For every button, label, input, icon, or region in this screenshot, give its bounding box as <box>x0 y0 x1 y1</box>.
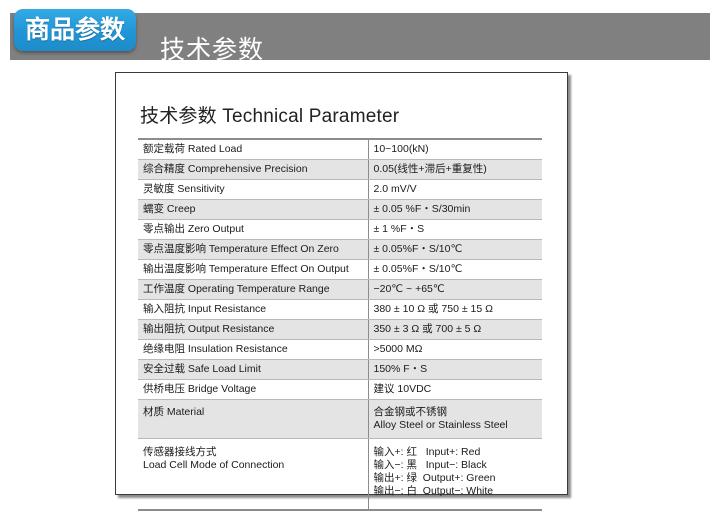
row-value: >5000 MΩ <box>368 340 542 360</box>
row-value: ± 0.05%F・S/10℃ <box>368 260 542 280</box>
table-row-material: 材质 Material 合金钢或不锈钢 Alloy Steel or Stain… <box>138 400 542 439</box>
table-row: 零点输出 Zero Output ± 1 %F・S <box>138 220 542 240</box>
table-row: 额定载荷 Rated Load 10~100(kN) <box>138 139 542 160</box>
wire-input-negative: 输入−: 黑 Input−: Black <box>374 459 537 472</box>
row-key: 蠕变 Creep <box>138 200 368 220</box>
table-row: 绝缘电阻 Insulation Resistance >5000 MΩ <box>138 340 542 360</box>
header-title: 技术参数 <box>160 29 264 71</box>
table-row: 灵敏度 Sensitivity 2.0 mV/V <box>138 180 542 200</box>
row-value: ± 1 %F・S <box>368 220 542 240</box>
row-value: ± 0.05%F・S/10℃ <box>368 240 542 260</box>
row-value: 350 ± 3 Ω 或 700 ± 5 Ω <box>368 320 542 340</box>
table-row: 输入阻抗 Input Resistance 380 ± 10 Ω 或 750 ±… <box>138 300 542 320</box>
row-key: 输出阻抗 Output Resistance <box>138 320 368 340</box>
row-key: 综合精度 Comprehensive Precision <box>138 160 368 180</box>
table-row: 工作温度 Operating Temperature Range −20℃ ~ … <box>138 280 542 300</box>
wire-output-negative: 输出−: 白 Output−: White <box>374 485 537 498</box>
row-key: 输出温度影响 Temperature Effect On Output <box>138 260 368 280</box>
table-row: 零点温度影响 Temperature Effect On Zero ± 0.05… <box>138 240 542 260</box>
table-row: 输出温度影响 Temperature Effect On Output ± 0.… <box>138 260 542 280</box>
product-params-badge: 商品参数 <box>14 9 136 51</box>
row-key: 零点输出 Zero Output <box>138 220 368 240</box>
connection-key-line-2: Load Cell Mode of Connection <box>143 459 362 472</box>
row-value: −20℃ ~ +65℃ <box>368 280 542 300</box>
table-row: 供桥电压 Bridge Voltage 建议 10VDC <box>138 380 542 400</box>
spec-card: 技术参数 Technical Parameter 额定载荷 Rated Load… <box>115 72 568 495</box>
row-key: 安全过载 Safe Load Limit <box>138 360 368 380</box>
row-key: 绝缘电阻 Insulation Resistance <box>138 340 368 360</box>
row-value: 380 ± 10 Ω 或 750 ± 15 Ω <box>368 300 542 320</box>
table-row: 蠕变 Creep ± 0.05 %F・S/30min <box>138 200 542 220</box>
table-row: 综合精度 Comprehensive Precision 0.05(线性+滞后+… <box>138 160 542 180</box>
row-value: 0.05(线性+滞后+重复性) <box>368 160 542 180</box>
row-value: 150% F・S <box>368 360 542 380</box>
table-row-connection: 传感器接线方式 Load Cell Mode of Connection 输入+… <box>138 439 542 511</box>
wire-input-positive: 输入+: 红 Input+: Red <box>374 446 537 459</box>
material-line-2: Alloy Steel or Stainless Steel <box>374 419 537 432</box>
row-key: 材质 Material <box>138 400 368 439</box>
wire-output-positive: 输出+: 绿 Output+: Green <box>374 472 537 485</box>
row-value: 建议 10VDC <box>368 380 542 400</box>
row-key: 供桥电压 Bridge Voltage <box>138 380 368 400</box>
row-value: 10~100(kN) <box>368 139 542 160</box>
spec-table-title: 技术参数 Technical Parameter <box>140 101 545 128</box>
row-key: 工作温度 Operating Temperature Range <box>138 280 368 300</box>
row-value: 合金钢或不锈钢 Alloy Steel or Stainless Steel <box>368 400 542 439</box>
spec-table: 额定载荷 Rated Load 10~100(kN) 综合精度 Comprehe… <box>138 138 542 511</box>
product-spec-page: 技术参数 商品参数 技术参数 Technical Parameter 额定载荷 … <box>0 0 720 512</box>
row-key: 传感器接线方式 Load Cell Mode of Connection <box>138 439 368 511</box>
row-value: 2.0 mV/V <box>368 180 542 200</box>
badge-label: 商品参数 <box>25 18 125 43</box>
table-row: 安全过载 Safe Load Limit 150% F・S <box>138 360 542 380</box>
spec-table-body: 额定载荷 Rated Load 10~100(kN) 综合精度 Comprehe… <box>138 139 542 510</box>
row-key: 输入阻抗 Input Resistance <box>138 300 368 320</box>
table-row: 输出阻抗 Output Resistance 350 ± 3 Ω 或 700 ±… <box>138 320 542 340</box>
row-value: ± 0.05 %F・S/30min <box>368 200 542 220</box>
row-value: 输入+: 红 Input+: Red 输入−: 黑 Input−: Black … <box>368 439 542 511</box>
row-key: 零点温度影响 Temperature Effect On Zero <box>138 240 368 260</box>
connection-key-line-1: 传感器接线方式 <box>143 446 362 459</box>
material-line-1: 合金钢或不锈钢 <box>374 406 537 419</box>
row-key: 额定载荷 Rated Load <box>138 139 368 160</box>
row-key: 灵敏度 Sensitivity <box>138 180 368 200</box>
